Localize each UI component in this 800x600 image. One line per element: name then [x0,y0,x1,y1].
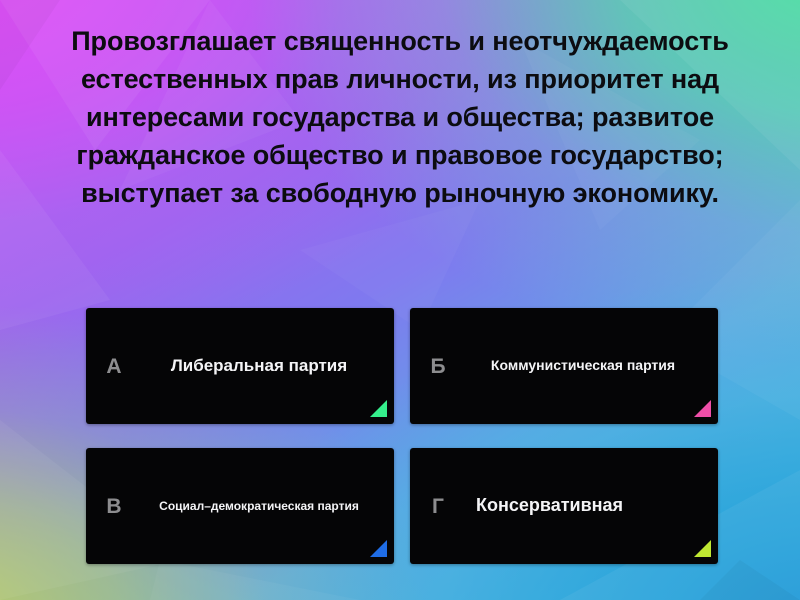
answer-marker-triangle-d [694,540,711,557]
answer-label-c: Социал–демократическая партия [142,499,394,514]
answer-label-b: Коммунистическая партия [466,357,718,374]
answer-marker-triangle-b [694,400,711,417]
answer-marker-triangle-c [370,540,387,557]
answer-letter-c: В [86,496,142,517]
answer-card-d[interactable]: Г Консервативная [410,448,718,564]
question-text: Провозглашает священность и неотчуждаемо… [60,22,740,212]
answer-letter-a: А [86,356,142,377]
quiz-screen: Провозглашает священность и неотчуждаемо… [0,0,800,600]
answer-marker-triangle-a [370,400,387,417]
answer-letter-d: Г [410,496,466,517]
answer-card-c[interactable]: В Социал–демократическая партия [86,448,394,564]
answer-letter-b: Б [410,356,466,377]
answer-options: А Либеральная партия Б Коммунистическая … [86,308,718,564]
answer-card-b[interactable]: Б Коммунистическая партия [410,308,718,424]
answer-label-d: Консервативная [466,495,718,517]
answer-card-a[interactable]: А Либеральная партия [86,308,394,424]
answer-label-a: Либеральная партия [142,356,394,377]
